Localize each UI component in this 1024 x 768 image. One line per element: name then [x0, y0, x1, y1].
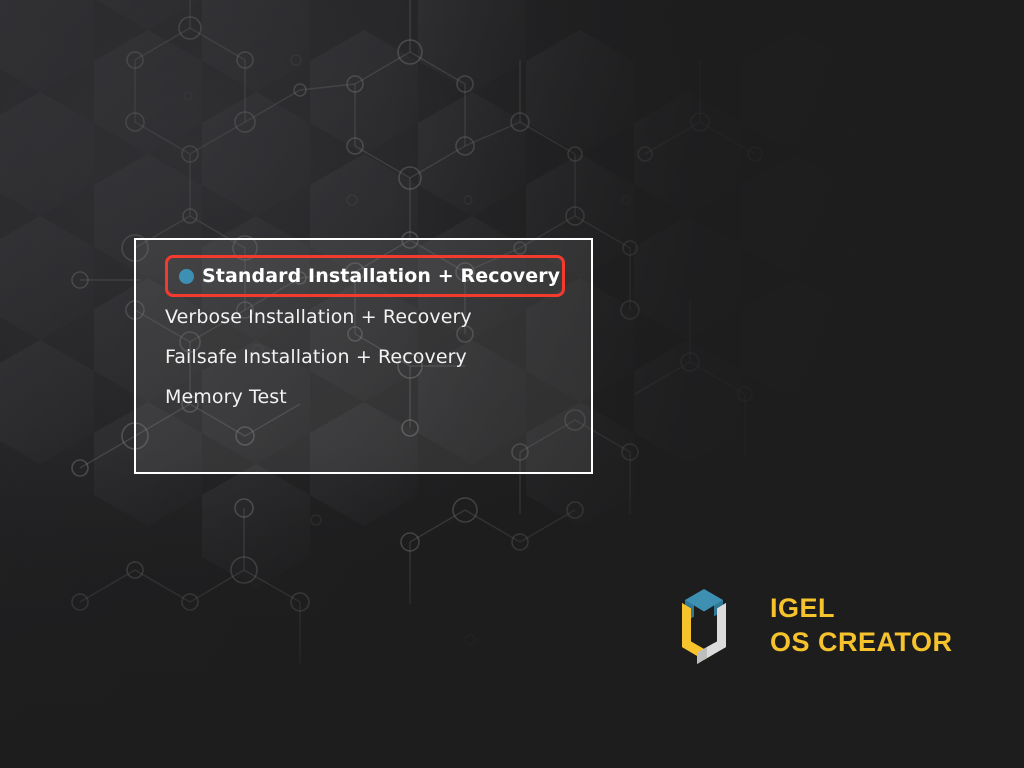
igel-os-creator-branding: IGEL OS CREATOR: [662, 583, 953, 669]
selection-bullet-icon: [179, 269, 194, 284]
boot-menu-item-label: Verbose Installation + Recovery: [165, 308, 472, 327]
igel-os-creator-wordmark: IGEL OS CREATOR: [770, 592, 953, 660]
boot-menu-item-label: Memory Test: [165, 388, 287, 407]
brand-name-igel: IGEL: [770, 592, 953, 626]
boot-menu-item-verbose-installation[interactable]: Verbose Installation + Recovery: [165, 297, 472, 337]
boot-menu-list: Standard Installation + Recovery Verbose…: [136, 240, 591, 472]
boot-menu-item-label: Failsafe Installation + Recovery: [165, 348, 467, 367]
boot-menu-item-failsafe-installation[interactable]: Failsafe Installation + Recovery: [165, 337, 467, 377]
igel-hexagon-logo-icon: [662, 583, 746, 669]
boot-menu-item-memory-test[interactable]: Memory Test: [165, 377, 287, 417]
product-name-os-creator: OS CREATOR: [770, 626, 953, 660]
boot-menu-panel: Standard Installation + Recovery Verbose…: [134, 238, 593, 474]
boot-menu-item-label: Standard Installation + Recovery: [202, 267, 560, 286]
boot-menu-item-standard-installation[interactable]: Standard Installation + Recovery: [165, 255, 565, 297]
boot-splash-screen: Standard Installation + Recovery Verbose…: [0, 0, 1024, 768]
